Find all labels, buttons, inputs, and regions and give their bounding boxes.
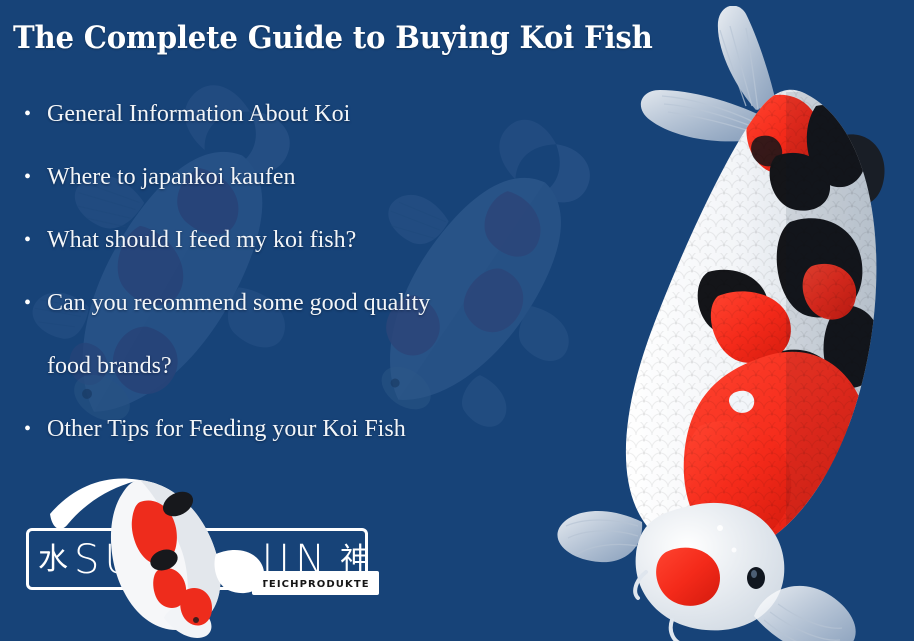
page-title: The Complete Guide to Buying Koi Fish bbox=[13, 20, 653, 56]
list-item: • General Information About Koi bbox=[24, 98, 584, 161]
logo-koi-fish-icon bbox=[44, 470, 274, 638]
logo-tagline-label: TEICHPRODUKTE bbox=[261, 579, 370, 590]
brand-logo[interactable]: 水 SUI JIN 神 TEICHPRODUKTE bbox=[22, 470, 372, 638]
bullet-marker-icon: • bbox=[24, 161, 47, 193]
bullet-marker-icon: • bbox=[24, 98, 47, 130]
list-item: • Can you recommend some good quality bbox=[24, 287, 584, 350]
list-item-label: What should I feed my koi fish? bbox=[47, 224, 584, 256]
list-item-label: food brands? bbox=[47, 350, 584, 382]
bullet-list: • General Information About Koi • Where … bbox=[24, 98, 584, 476]
list-item-continuation: • food brands? bbox=[24, 350, 584, 413]
list-item-label: Where to japankoi kaufen bbox=[47, 161, 584, 193]
list-item: • What should I feed my koi fish? bbox=[24, 224, 584, 287]
slide-canvas: The Complete Guide to Buying Koi Fish • … bbox=[0, 0, 914, 641]
main-koi-fish-graphic bbox=[540, 6, 914, 641]
koi-eye bbox=[747, 567, 765, 589]
list-item-label: Other Tips for Feeding your Koi Fish bbox=[47, 413, 584, 445]
list-item-label: General Information About Koi bbox=[47, 98, 584, 130]
list-item: • Where to japankoi kaufen bbox=[24, 161, 584, 224]
bullet-marker-icon: • bbox=[24, 224, 47, 256]
list-item-label: Can you recommend some good quality bbox=[47, 287, 584, 319]
bullet-marker-icon: • bbox=[24, 413, 47, 445]
list-item: • Other Tips for Feeding your Koi Fish bbox=[24, 413, 584, 476]
bullet-marker-icon: • bbox=[24, 287, 47, 319]
